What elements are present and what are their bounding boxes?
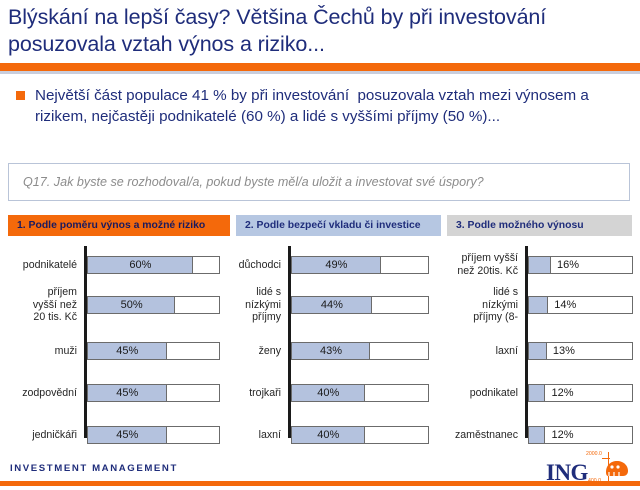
lion-icon: [604, 456, 630, 478]
bar-row: laxní40%: [233, 418, 429, 452]
bar-track: 16%: [528, 256, 633, 274]
bar-category-label: laxní: [233, 429, 288, 442]
bar-track: 60%: [87, 256, 220, 274]
title-orange-rule: [0, 63, 640, 71]
logo-axis-top-label: 2000.0: [586, 451, 602, 457]
bullet-paragraph-text: Největší část populace 41 % by při inves…: [35, 85, 624, 127]
bar-track: 49%: [291, 256, 429, 274]
bar-row: podnikatelé60%: [8, 248, 220, 282]
bar-track: 12%: [528, 426, 633, 444]
bar-category-label: lidé s nízkými příjmy: [233, 286, 288, 324]
bar-category-label: jedničkáři: [8, 429, 84, 442]
tab-podle-pomeru-vynos-riziko[interactable]: 1. Podle poměru výnos a možné riziko: [8, 215, 230, 236]
bar-category-label: podnikatelé: [8, 259, 84, 272]
bar-value-label: 12%: [551, 385, 573, 401]
tab-podle-bezpeci-vkladu[interactable]: 2. Podle bezpečí vkladu či investice: [236, 215, 441, 236]
bar-value-label: 16%: [557, 257, 579, 273]
bar-track: 12%: [528, 384, 633, 402]
bar-value-label: 14%: [554, 297, 576, 313]
bar-track: 50%: [87, 296, 220, 314]
bar-fill: [529, 297, 548, 313]
bar-row: příjem vyšší než 20 tis. Kč50%: [8, 288, 220, 322]
footer-orange-rule: [0, 481, 640, 486]
bar-track: 13%: [528, 342, 633, 360]
bar-row: podnikatel12%: [443, 376, 633, 410]
bar-category-label: příjem vyšší než 20tis. Kč: [443, 252, 525, 277]
bar-value-label: 44%: [292, 297, 372, 313]
bar-value-label: 40%: [292, 427, 365, 443]
bar-category-label: podnikatel: [443, 387, 525, 400]
bar-track: 45%: [87, 426, 220, 444]
bar-value-label: 12%: [551, 427, 573, 443]
bar-fill: [529, 385, 545, 401]
bar-value-label: 43%: [292, 343, 370, 359]
bar-category-label: lidé s nízkými příjmy (8-: [443, 286, 525, 324]
bar-category-label: laxní: [443, 345, 525, 358]
bar-fill: [529, 343, 547, 359]
slide-title-text: Blýskání na lepší časy? Většina Čechů by…: [8, 4, 632, 58]
bar-value-label: 60%: [88, 257, 193, 273]
bar-category-label: muži: [8, 345, 84, 358]
bar-category-label: důchodci: [233, 259, 288, 272]
page-title: Blýskání na lepší časy? Většina Čechů by…: [8, 4, 632, 58]
bar-value-label: 45%: [88, 427, 167, 443]
bar-row: muži45%: [8, 334, 220, 368]
bar-category-label: trojkaři: [233, 387, 288, 400]
bullet-square-icon: [16, 91, 25, 100]
bar-track: 40%: [291, 426, 429, 444]
bar-row: příjem vyšší než 20tis. Kč16%: [443, 248, 633, 282]
bar-value-label: 45%: [88, 343, 167, 359]
bar-category-label: zodpovědní: [8, 387, 84, 400]
bar-row: jedničkáři45%: [8, 418, 220, 452]
question-text: Q17. Jak byste se rozhodoval/a, pokud by…: [9, 175, 484, 189]
chart-column-2: důchodci49%lidé s nízkými příjmy44%ženy4…: [233, 246, 429, 438]
bar-track: 44%: [291, 296, 429, 314]
bar-row: důchodci49%: [233, 248, 429, 282]
bar-row: laxní13%: [443, 334, 633, 368]
bar-row: zaměstnanec12%: [443, 418, 633, 452]
question-box: Q17. Jak byste se rozhodoval/a, pokud by…: [8, 163, 630, 201]
bar-row: lidé s nízkými příjmy (8-14%: [443, 288, 633, 322]
bar-track: 14%: [528, 296, 633, 314]
tab-podle-mozneho-vynosu[interactable]: 3. Podle možného výnosu: [447, 215, 632, 236]
bar-category-label: příjem vyšší než 20 tis. Kč: [8, 286, 84, 324]
title-rule-shadow: [0, 71, 640, 74]
bar-row: ženy43%: [233, 334, 429, 368]
chart-area: podnikatelé60%příjem vyšší než 20 tis. K…: [0, 246, 640, 438]
bullet-paragraph: Největší část populace 41 % by při inves…: [16, 85, 624, 127]
bar-category-label: ženy: [233, 345, 288, 358]
bar-value-label: 45%: [88, 385, 167, 401]
bar-track: 45%: [87, 384, 220, 402]
chart-category-tab-bar: 1. Podle poměru výnos a možné riziko 2. …: [8, 215, 632, 236]
footer-tagline: INVESTMENT MANAGEMENT: [10, 463, 178, 474]
bar-row: trojkaři40%: [233, 376, 429, 410]
bar-value-label: 50%: [88, 297, 175, 313]
bar-fill: [529, 427, 545, 443]
bar-row: zodpovědní45%: [8, 376, 220, 410]
chart-column-1: podnikatelé60%příjem vyšší než 20 tis. K…: [8, 246, 220, 438]
bar-value-label: 40%: [292, 385, 365, 401]
bar-row: lidé s nízkými příjmy44%: [233, 288, 429, 322]
bar-category-label: zaměstnanec: [443, 429, 525, 442]
bar-track: 45%: [87, 342, 220, 360]
bar-value-label: 13%: [553, 343, 575, 359]
bar-value-label: 49%: [292, 257, 381, 273]
bar-fill: [529, 257, 551, 273]
bar-track: 40%: [291, 384, 429, 402]
bar-track: 43%: [291, 342, 429, 360]
chart-column-3: příjem vyšší než 20tis. Kč16%lidé s nízk…: [443, 246, 633, 438]
